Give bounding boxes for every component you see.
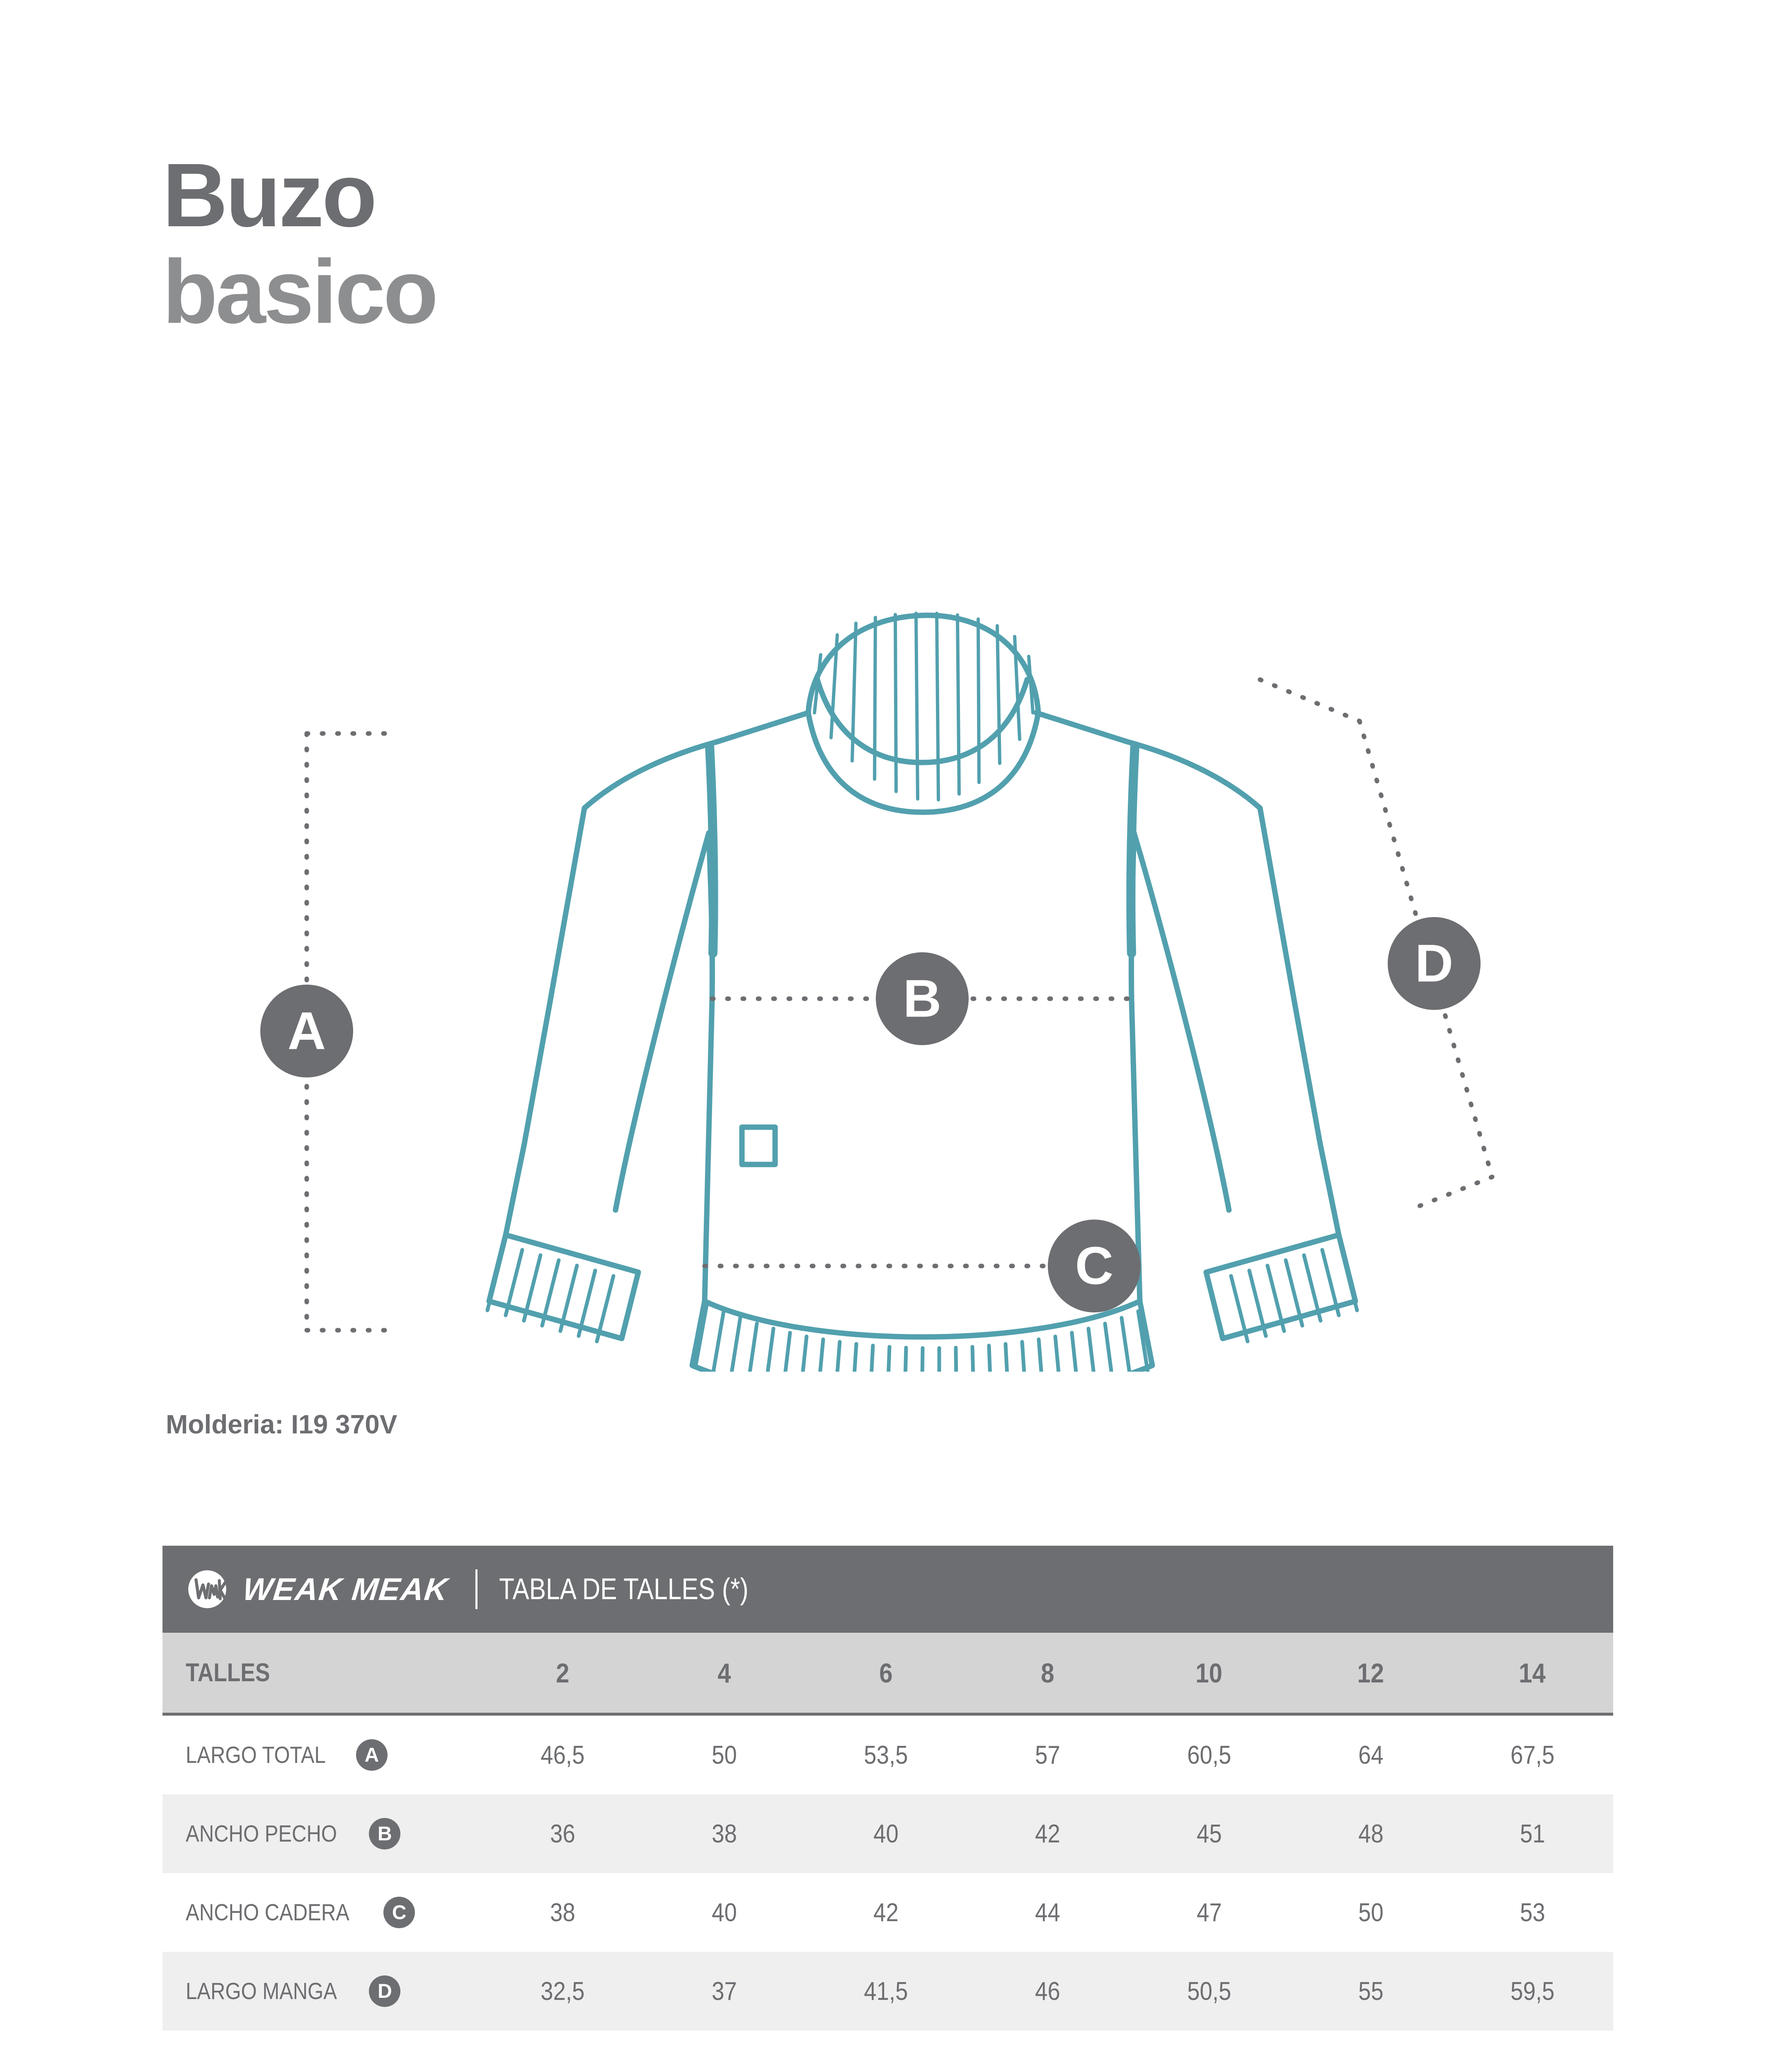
table-cell: 38 (482, 1898, 643, 1927)
illustration-badge-d: D (1388, 917, 1481, 1010)
table-row: ANCHO PECHO B 36 38 40 42 45 48 51 (162, 1794, 1613, 1873)
page-title: Buzo basico (162, 147, 436, 341)
svg-text:B: B (903, 969, 941, 1029)
table-cell: 60,5 (1128, 1740, 1290, 1770)
brand-name: WEAK MEAK (241, 1571, 450, 1607)
molderia-label: Molderia: I19 370V (166, 1409, 397, 1440)
table-cell: 46 (967, 1977, 1128, 2006)
size-header-cell: 4 (643, 1657, 805, 1689)
table-header-bar: WEAK MEAK TABLA DE TALLES (*) (162, 1546, 1613, 1633)
size-header-cell: 6 (805, 1657, 967, 1689)
weak-meak-logo-icon (186, 1568, 229, 1611)
table-cell: 45 (1128, 1819, 1290, 1849)
table-cell: 41,5 (805, 1977, 967, 2006)
illustration-badge-a: A (260, 985, 353, 1077)
table-cell: 37 (643, 1977, 805, 2006)
sizes-row-label: TALLES (162, 1658, 482, 1687)
table-cell: 42 (805, 1898, 967, 1927)
table-title: TABLA DE TALLES (*) (499, 1572, 749, 1606)
table-cell: 53 (1452, 1898, 1613, 1927)
garment-illustration: A B C D (257, 448, 1550, 1372)
table-cell: 47 (1128, 1898, 1290, 1927)
size-header-cell: 12 (1290, 1657, 1452, 1689)
table-cell: 38 (643, 1819, 805, 1849)
size-header-cell: 10 (1128, 1657, 1290, 1689)
row-badge-a: A (356, 1739, 388, 1771)
table-row: LARGO MANGA D 32,5 37 41,5 46 50,5 55 59… (162, 1952, 1613, 2031)
table-cell: 42 (967, 1819, 1128, 1849)
table-cell: 32,5 (482, 1977, 643, 2006)
table-sizes-row: TALLES 2 4 6 8 10 12 14 (162, 1633, 1613, 1716)
svg-text:D: D (1415, 934, 1453, 993)
table-cell: 48 (1290, 1819, 1452, 1849)
row-label: ANCHO PECHO B (162, 1818, 482, 1849)
table-cell: 50,5 (1128, 1977, 1290, 2006)
table-cell: 67,5 (1452, 1740, 1613, 1770)
svg-text:A: A (288, 1002, 326, 1061)
table-cell: 36 (482, 1819, 643, 1849)
table-cell: 46,5 (482, 1740, 643, 1770)
row-badge-c: C (383, 1897, 415, 1928)
table-cell: 51 (1452, 1819, 1613, 1849)
table-row: ANCHO CADERA C 38 40 42 44 47 50 53 (162, 1873, 1613, 1952)
illustration-badge-b: B (876, 952, 969, 1045)
row-badge-d: D (369, 1975, 400, 2007)
title-line-1: Buzo (162, 147, 436, 244)
header-divider (475, 1569, 477, 1609)
illustration-badge-c: C (1048, 1220, 1141, 1312)
table-cell: 40 (643, 1898, 805, 1927)
table-row: LARGO TOTAL A 46,5 50 53,5 57 60,5 64 67… (162, 1716, 1613, 1794)
row-label: ANCHO CADERA C (162, 1897, 482, 1928)
size-header-cell: 8 (967, 1657, 1128, 1689)
table-cell: 50 (1290, 1898, 1452, 1927)
row-badge-b: B (369, 1818, 400, 1849)
table-cell: 55 (1290, 1977, 1452, 2006)
row-label: LARGO MANGA D (162, 1975, 482, 2007)
table-cell: 40 (805, 1819, 967, 1849)
table-cell: 53,5 (805, 1740, 967, 1770)
title-line-2: basico (162, 244, 436, 340)
table-cell: 64 (1290, 1740, 1452, 1770)
table-cell: 50 (643, 1740, 805, 1770)
table-cell: 44 (967, 1898, 1128, 1927)
row-label: LARGO TOTAL A (162, 1739, 482, 1771)
size-table: WEAK MEAK TABLA DE TALLES (*) TALLES 2 4… (162, 1546, 1613, 2031)
size-header-cell: 14 (1452, 1657, 1613, 1689)
svg-text:C: C (1075, 1237, 1113, 1296)
size-header-cell: 2 (482, 1657, 643, 1689)
table-cell: 59,5 (1452, 1977, 1613, 2006)
table-cell: 57 (967, 1740, 1128, 1770)
